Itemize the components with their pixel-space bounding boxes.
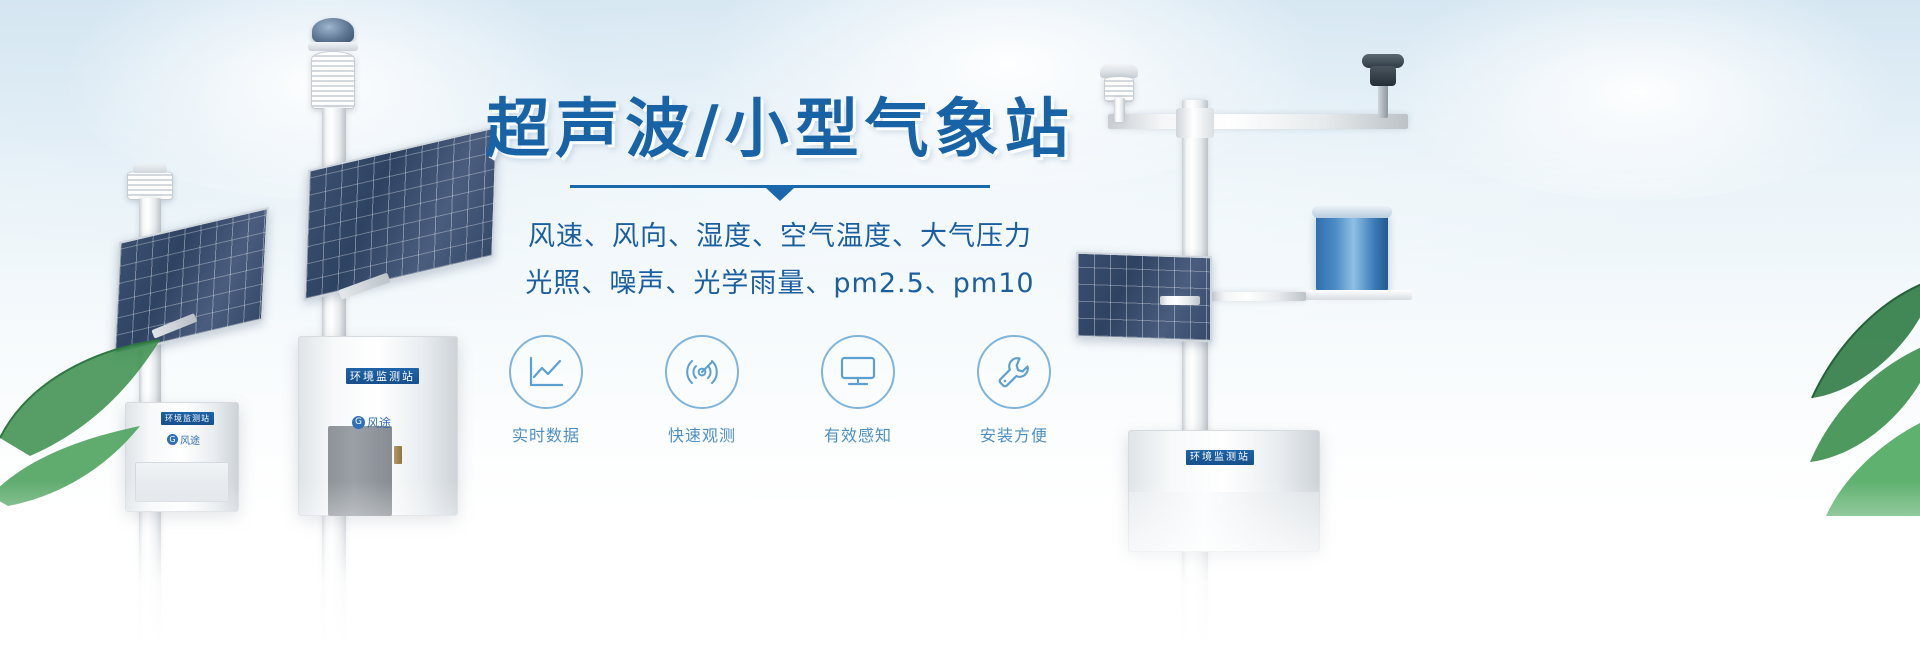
solar-panel <box>113 207 269 356</box>
cross-arm <box>1108 114 1408 129</box>
cabinet-handle <box>394 446 402 464</box>
page-title: 超声波/小型气象站 <box>430 96 1130 165</box>
cabinet-lower-body <box>1128 492 1320 552</box>
brand-mark-icon: G <box>167 434 178 445</box>
banner-content: 超声波/小型气象站 风速、风向、湿度、空气温度、大气压力 光照、噪声、光学雨量、… <box>430 96 1130 446</box>
sensor-cap <box>308 42 358 51</box>
feature-label: 快速观测 <box>644 422 760 446</box>
title-divider <box>570 185 990 188</box>
subtitle-line-1: 风速、风向、湿度、空气温度、大气压力 <box>430 214 1130 259</box>
cabinet-door-panel <box>135 462 229 502</box>
panel-support-arm <box>1160 296 1200 305</box>
feature-icon-wrap <box>665 335 739 409</box>
rain-gauge-rim <box>1312 206 1392 218</box>
brand-logo: G 风途 <box>352 414 391 431</box>
feature-label: 有效感知 <box>800 422 916 446</box>
station-name-label: 环境监测站 <box>346 368 419 384</box>
cabinet-inner-door <box>328 426 392 516</box>
feature-item-realtime-data[interactable]: 实时数据 <box>488 335 604 446</box>
line-chart-icon <box>527 355 565 389</box>
monitor-icon <box>838 355 878 389</box>
sensor-cap <box>133 163 167 173</box>
feature-label: 实时数据 <box>488 422 604 446</box>
station-name-label: 环境监测站 <box>1186 450 1254 465</box>
subtitle-line-2: 光照、噪声、光学雨量、pm2.5、pm10 <box>430 261 1130 306</box>
feature-icon-wrap <box>821 335 895 409</box>
rain-gauge-icon <box>1316 212 1388 292</box>
wrench-icon <box>995 353 1033 391</box>
radar-scan-icon <box>683 353 721 391</box>
brand-name: 风途 <box>367 414 391 431</box>
sensor-head-icon <box>127 170 173 200</box>
radiation-shield-icon <box>311 51 355 109</box>
feature-icon-wrap <box>509 335 583 409</box>
feature-item-fast-observation[interactable]: 快速观测 <box>644 335 760 446</box>
leaf-decoration-right <box>1726 276 1920 516</box>
brand-logo: G 风途 <box>167 432 200 447</box>
feature-list: 实时数据 快速观测 <box>430 335 1130 446</box>
product-banner: 环境监测站 G 风途 环境监测站 G 风途 <box>0 0 1920 650</box>
dome-sensor-icon <box>312 18 354 44</box>
feature-item-easy-install[interactable]: 安装方便 <box>956 335 1072 446</box>
mast-pole <box>1182 100 1208 650</box>
brand-name: 风途 <box>180 432 200 447</box>
rain-gauge-base-shelf <box>1296 290 1412 300</box>
anemometer-cups-icon <box>1370 66 1396 86</box>
station-name-label: 环境监测站 <box>161 412 214 425</box>
gauge-support-arm <box>1208 292 1306 301</box>
arm-collar <box>1176 108 1214 138</box>
feature-icon-wrap <box>977 335 1051 409</box>
feature-item-effective-sensing[interactable]: 有效感知 <box>800 335 916 446</box>
feature-label: 安装方便 <box>956 422 1072 446</box>
brand-mark-icon: G <box>352 416 365 429</box>
